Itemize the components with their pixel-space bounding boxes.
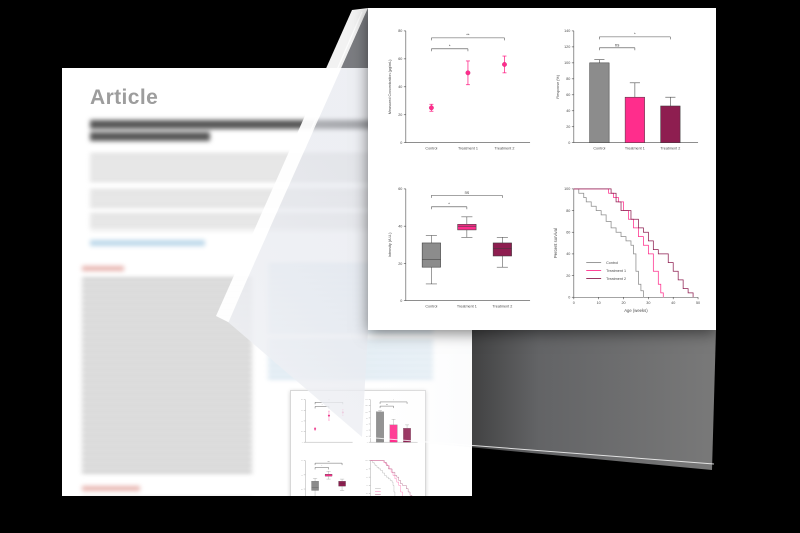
svg-text:Intensity (A.U.): Intensity (A.U.)	[388, 233, 392, 258]
svg-text:120: 120	[564, 45, 570, 49]
thumb-chart-2: 020406080100120140ns*	[359, 394, 422, 453]
svg-text:20: 20	[566, 274, 570, 278]
svg-text:60: 60	[366, 423, 368, 425]
chart-intensity[interactable]: 0204060Intensity (A.U.)ControlTreatment …	[376, 174, 540, 328]
chart-measured-concentration[interactable]: 020406080Measured Concentration (µg/mL)C…	[376, 16, 540, 170]
svg-text:Response (%): Response (%)	[556, 75, 560, 99]
article-affiliation-block	[90, 190, 390, 208]
svg-text:**: **	[328, 400, 330, 402]
svg-text:60: 60	[566, 231, 570, 235]
article-title-line-1	[90, 120, 375, 129]
svg-text:0: 0	[568, 141, 570, 145]
thumb-chart-4: 020406080100	[359, 455, 422, 496]
thumb-chart-1: 020406080***	[294, 394, 357, 453]
svg-text:140: 140	[564, 29, 570, 33]
svg-text:60: 60	[398, 57, 402, 61]
svg-text:ns: ns	[615, 42, 619, 47]
svg-text:100: 100	[564, 187, 570, 191]
svg-text:*: *	[321, 465, 322, 467]
svg-text:Control: Control	[425, 305, 437, 309]
svg-text:Treatment 2: Treatment 2	[606, 277, 626, 281]
svg-text:Percent survival: Percent survival	[553, 228, 558, 258]
svg-text:0: 0	[400, 141, 402, 145]
svg-text:100: 100	[365, 460, 367, 462]
svg-text:80: 80	[366, 417, 368, 419]
chart-response[interactable]: 020406080100120140Response (%)ControlTre…	[544, 16, 708, 170]
svg-text:80: 80	[566, 77, 570, 81]
svg-text:120: 120	[365, 405, 367, 407]
figure-thumbnail[interactable]: 020406080*** 020406080100120140ns* 02040…	[290, 390, 426, 496]
svg-text:20: 20	[398, 262, 402, 266]
svg-text:ns: ns	[328, 461, 330, 463]
svg-text:100: 100	[564, 61, 570, 65]
svg-text:*: *	[322, 404, 323, 406]
svg-text:40: 40	[301, 474, 303, 476]
svg-text:Treatment 1: Treatment 1	[457, 305, 477, 309]
svg-text:Age (weeks): Age (weeks)	[624, 308, 648, 313]
svg-text:*: *	[448, 201, 450, 206]
svg-text:60: 60	[398, 187, 402, 191]
svg-text:20: 20	[566, 125, 570, 129]
svg-text:40: 40	[398, 85, 402, 89]
svg-text:40: 40	[301, 420, 303, 422]
article-title-line-2	[90, 132, 210, 141]
svg-text:80: 80	[366, 468, 368, 470]
svg-text:*: *	[393, 400, 394, 402]
thumb-chart-3: 0204060*ns	[294, 455, 357, 496]
svg-text:ns: ns	[386, 404, 388, 406]
svg-text:Treatment 2: Treatment 2	[492, 305, 512, 309]
svg-text:Control: Control	[425, 147, 437, 151]
section-heading-left-2	[82, 486, 140, 491]
svg-text:20: 20	[366, 436, 368, 438]
svg-text:10: 10	[597, 301, 601, 305]
svg-text:*: *	[634, 31, 636, 36]
svg-text:60: 60	[301, 410, 303, 412]
body-text-left-1	[82, 278, 252, 476]
svg-text:Treatment 1: Treatment 1	[625, 147, 645, 151]
svg-text:*: *	[449, 43, 451, 48]
article-link-line	[90, 240, 205, 246]
svg-text:20: 20	[398, 113, 402, 117]
svg-text:40: 40	[366, 485, 368, 487]
svg-text:20: 20	[621, 301, 625, 305]
svg-text:0: 0	[573, 301, 575, 305]
svg-text:40: 40	[566, 109, 570, 113]
svg-text:140: 140	[365, 399, 367, 401]
svg-text:40: 40	[566, 252, 570, 256]
svg-text:40: 40	[671, 301, 675, 305]
svg-text:Treatment 2: Treatment 2	[660, 147, 680, 151]
svg-text:60: 60	[366, 477, 368, 479]
body-text-right-2	[268, 340, 433, 382]
svg-text:40: 40	[398, 225, 402, 229]
svg-text:Measured Concentration (µg/mL): Measured Concentration (µg/mL)	[388, 59, 392, 114]
screenshot-canvas: Article 020406080*** 020406080100120140n…	[0, 0, 800, 533]
svg-text:20: 20	[366, 493, 368, 495]
svg-text:60: 60	[301, 460, 303, 462]
svg-text:Treatment 1: Treatment 1	[606, 269, 626, 273]
svg-text:80: 80	[301, 399, 303, 401]
svg-text:0: 0	[302, 442, 303, 444]
svg-text:0: 0	[367, 442, 368, 444]
magnified-figure-panel[interactable]: 020406080Measured Concentration (µg/mL)C…	[368, 8, 716, 330]
svg-text:40: 40	[366, 429, 368, 431]
section-heading-left-1	[82, 266, 124, 271]
svg-text:0: 0	[568, 296, 570, 300]
svg-text:60: 60	[566, 93, 570, 97]
svg-text:20: 20	[301, 431, 303, 433]
svg-text:80: 80	[398, 29, 402, 33]
svg-text:ns: ns	[465, 190, 469, 195]
svg-text:100: 100	[365, 411, 367, 413]
chart-survival[interactable]: 02040608010001020304050Age (weeks)Percen…	[544, 174, 708, 328]
svg-text:**: **	[466, 32, 470, 37]
svg-text:Control: Control	[606, 261, 618, 265]
article-label: Article	[90, 86, 158, 110]
svg-text:30: 30	[646, 301, 650, 305]
svg-text:0: 0	[400, 299, 402, 303]
svg-text:Control: Control	[593, 147, 605, 151]
svg-text:Treatment 2: Treatment 2	[495, 147, 515, 151]
svg-text:50: 50	[696, 301, 700, 305]
svg-text:80: 80	[566, 209, 570, 213]
svg-text:Treatment 1: Treatment 1	[458, 147, 478, 151]
svg-text:20: 20	[301, 489, 303, 491]
